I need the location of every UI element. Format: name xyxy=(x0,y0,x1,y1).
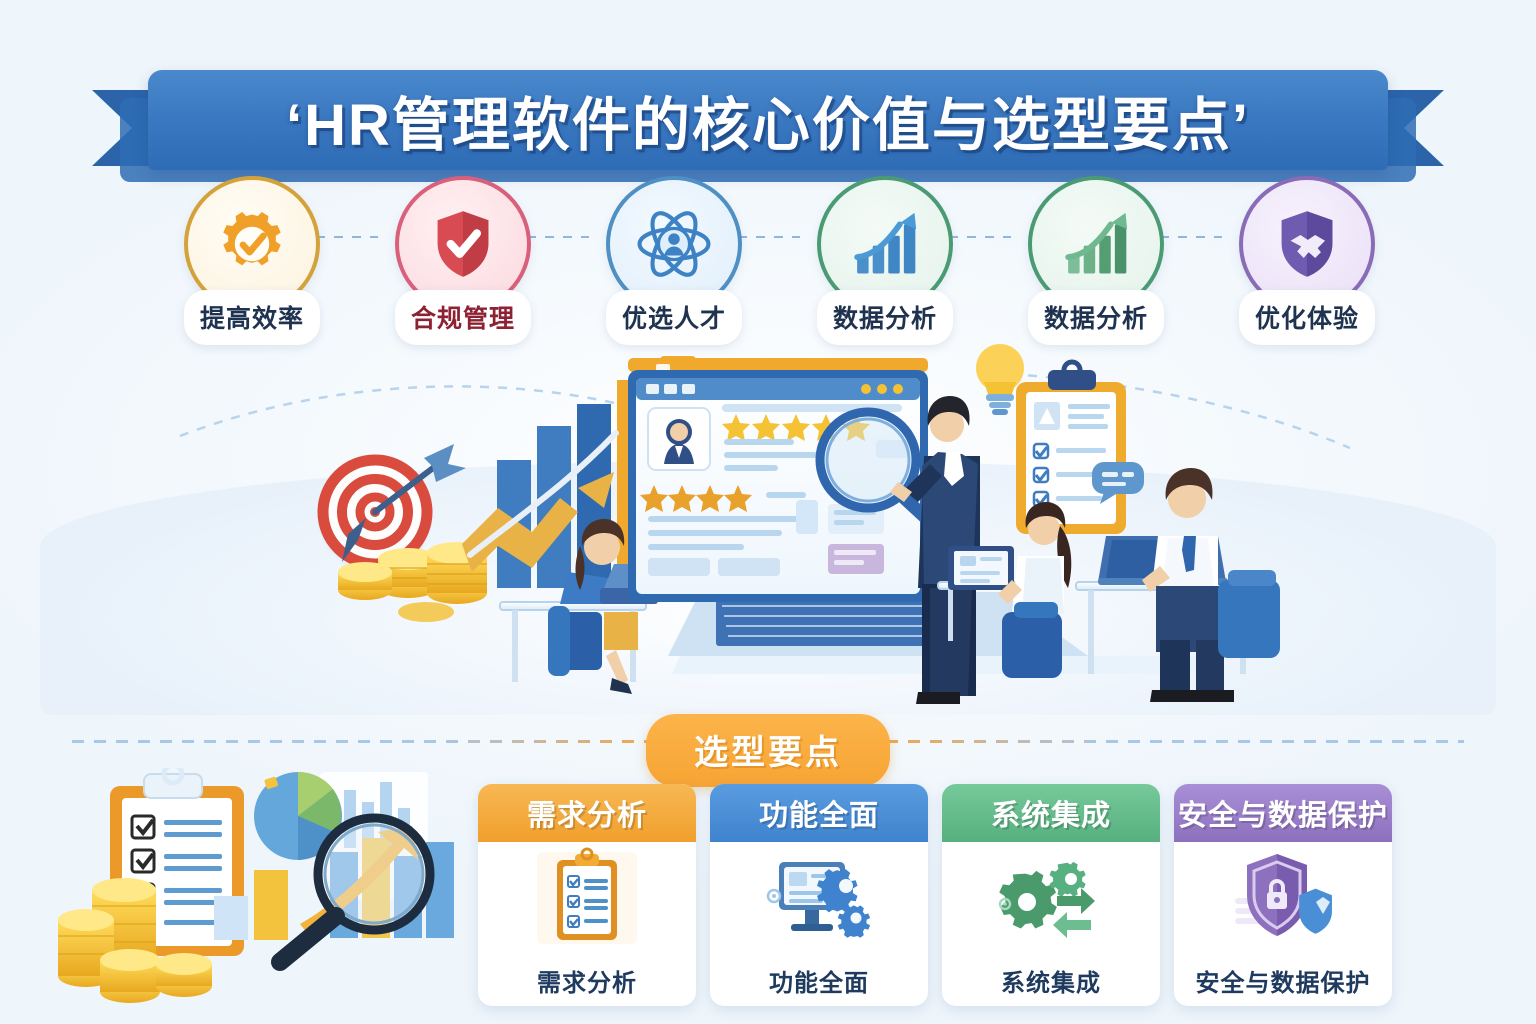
value-icon-row: 提高效率 合规管理 xyxy=(0,176,1536,340)
value-label: 数据分析 xyxy=(1028,290,1164,345)
section-title-pill: 选型要点 xyxy=(646,714,890,787)
card-caption: 系统集成 xyxy=(942,954,1160,1006)
shield-handshake-icon xyxy=(1266,203,1348,285)
shield-check-icon xyxy=(422,203,504,285)
scene-graphics xyxy=(0,340,1536,730)
value-item-compliance[interactable]: 合规管理 xyxy=(388,176,538,345)
selection-points-cards: 需求分析 xyxy=(478,784,1418,1006)
card-header-label: 系统集成 xyxy=(991,792,1111,834)
bar-chart-with-growth-arrow xyxy=(462,380,651,588)
card-header-label: 安全与数据保护 xyxy=(1178,792,1388,834)
card-header: 功能全面 xyxy=(710,784,928,842)
value-item-talent[interactable]: 优选人才 xyxy=(599,176,749,345)
value-label: 合规管理 xyxy=(395,290,531,345)
card-header: 安全与数据保护 xyxy=(1174,784,1392,842)
value-label: 数据分析 xyxy=(817,290,953,345)
value-label: 优化体验 xyxy=(1239,290,1375,345)
card-header: 需求分析 xyxy=(478,784,696,842)
bar-chart-up-icon xyxy=(1055,203,1137,285)
title-banner: ‘HR管理软件的核心价值与选型要点’ xyxy=(0,34,1536,170)
atom-person-icon xyxy=(633,203,715,285)
value-label: 提高效率 xyxy=(184,290,320,345)
monitor-gears-icon xyxy=(763,846,875,950)
ribbon-body: ‘HR管理软件的核心价值与选型要点’ xyxy=(148,70,1388,170)
gear-check-icon xyxy=(211,203,293,285)
card-caption: 需求分析 xyxy=(478,954,696,1006)
card-system-integration[interactable]: 系统集成 系统集成 xyxy=(942,784,1160,1006)
page-title: ‘HR管理软件的核心价值与选型要点’ xyxy=(286,78,1250,162)
value-item-efficiency[interactable]: 提高效率 xyxy=(177,176,327,345)
hr-software-illustration xyxy=(0,340,1536,730)
card-requirement-analysis[interactable]: 需求分析 xyxy=(478,784,696,1006)
value-item-experience[interactable]: 优化体验 xyxy=(1232,176,1382,345)
shield-lock-icon xyxy=(1227,846,1339,950)
card-art xyxy=(942,842,1160,954)
value-label: 优选人才 xyxy=(606,290,742,345)
bar-chart-up-icon xyxy=(844,203,926,285)
card-caption: 安全与数据保护 xyxy=(1174,954,1392,1006)
card-full-features[interactable]: 功能全面 xyxy=(710,784,928,1006)
value-item-analytics-2[interactable]: 数据分析 xyxy=(1021,176,1171,345)
analysis-illustration xyxy=(58,768,468,1018)
card-header-label: 功能全面 xyxy=(759,792,879,834)
card-header: 系统集成 xyxy=(942,784,1160,842)
card-art xyxy=(1174,842,1392,954)
clipboard-checklist-icon xyxy=(531,846,643,950)
card-caption: 功能全面 xyxy=(710,954,928,1006)
card-security-data-protection[interactable]: 安全与数据保护 安全与数据保护 xyxy=(1174,784,1392,1006)
infographic-canvas: ‘HR管理软件的核心价值与选型要点’ 提高效率 xyxy=(0,0,1536,1024)
section-title-label: 选型要点 xyxy=(694,734,842,772)
gears-exchange-icon xyxy=(995,846,1107,950)
card-art xyxy=(478,842,696,954)
card-header-label: 需求分析 xyxy=(527,792,647,834)
value-item-analytics-1[interactable]: 数据分析 xyxy=(810,176,960,345)
analysis-graphics xyxy=(58,768,468,1018)
card-art xyxy=(710,842,928,954)
